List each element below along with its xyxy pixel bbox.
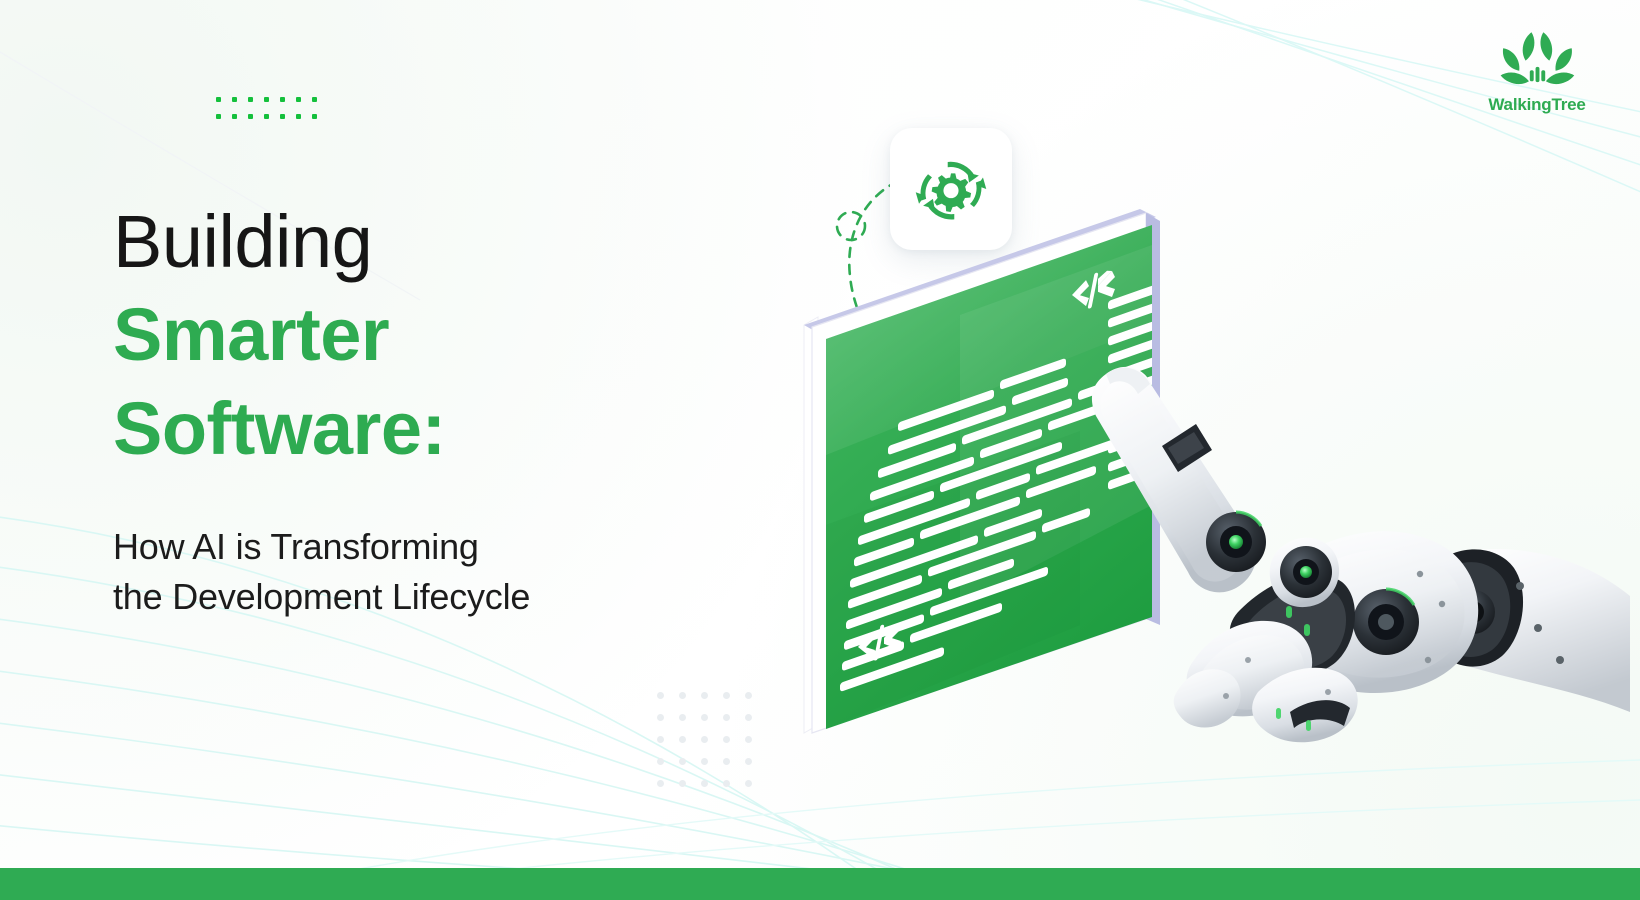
headline-line-1: Building	[113, 196, 733, 288]
green-dot-grid-decoration	[216, 97, 328, 131]
brand-logo[interactable]: WalkingTree	[1472, 28, 1602, 115]
subheadline-block: How AI is Transforming the Development L…	[113, 522, 753, 622]
leaf-rosette-icon	[1494, 28, 1580, 94]
robotic-hand-pointing-icon	[1090, 360, 1630, 780]
gray-dot-grid-decoration	[657, 692, 767, 802]
subheadline-line-2: the Development Lifecycle	[113, 572, 753, 622]
headline-line-3: Software:	[113, 382, 733, 476]
bottom-accent-bar	[0, 868, 1640, 900]
hero-banner: Building Smarter Software: How AI is Tra…	[0, 0, 1640, 900]
hero-illustration	[760, 110, 1620, 750]
headline-line-2: Smarter	[113, 288, 733, 382]
headline-block: Building Smarter Software:	[113, 196, 733, 476]
subheadline-line-1: How AI is Transforming	[113, 522, 753, 572]
